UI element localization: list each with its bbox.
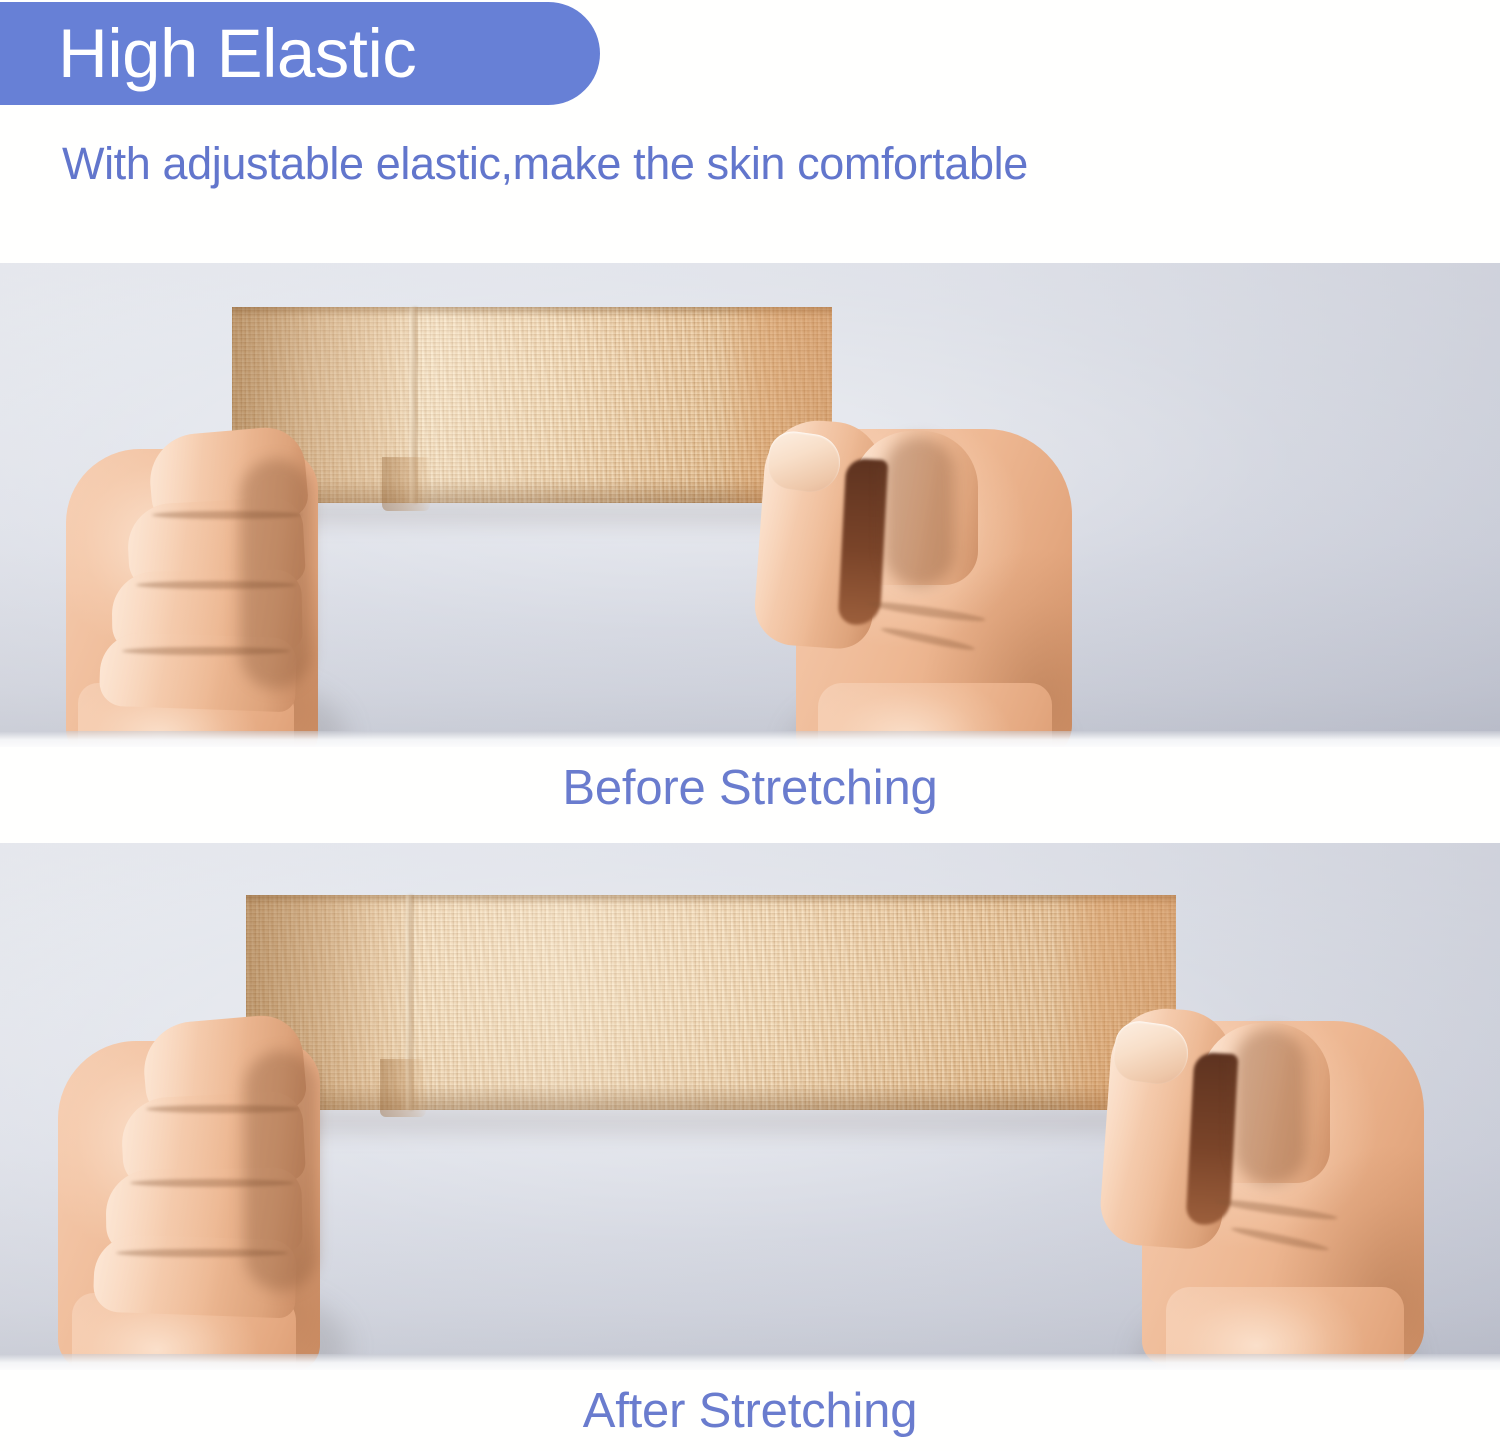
photo-after-stretching [0,843,1500,1370]
header-subtitle: With adjustable elastic,make the skin co… [62,141,1028,186]
bandage-before [232,307,832,503]
header-badge-label: High Elastic [58,19,416,88]
bandage-roll-edge [382,457,430,511]
caption-after-stretching: After Stretching [0,1387,1500,1436]
bandage-after [246,895,1176,1110]
table-front-edge [0,731,1500,747]
photo-before-stretching [0,263,1500,747]
finger-gap-shadow [838,458,889,626]
table-front-edge [0,1354,1500,1370]
bandage-roll-edge [380,1059,426,1117]
header-badge: High Elastic [0,2,600,105]
caption-before-stretching: Before Stretching [0,764,1500,813]
